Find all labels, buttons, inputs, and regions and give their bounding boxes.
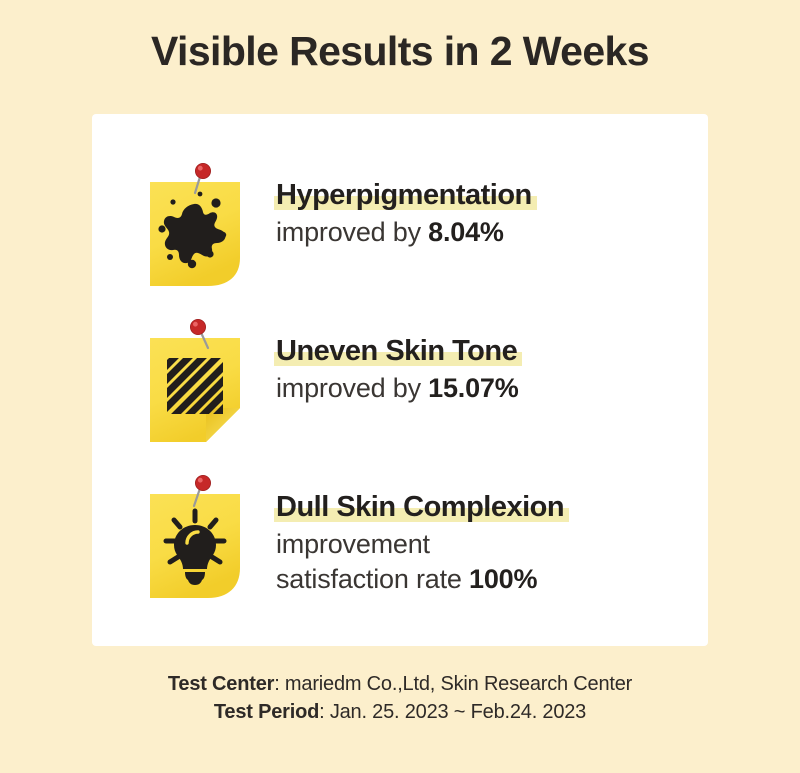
lightbulb-icon: [150, 494, 240, 598]
row-subline: improvement: [276, 527, 708, 562]
ink-splatter-icon: [150, 182, 240, 286]
footer: Test Center: mariedm Co.,Ltd, Skin Resea…: [0, 670, 800, 726]
row-heading: Dull Skin Complexion: [276, 490, 564, 524]
diagonal-stripes-icon: [150, 338, 240, 442]
sticky-note-1: [150, 162, 246, 286]
row-subline: improved by 15.07%: [276, 371, 708, 406]
row-heading: Hyperpigmentation: [276, 178, 532, 212]
push-pin-icon: [186, 162, 216, 196]
row-heading: Uneven Skin Tone: [276, 334, 517, 368]
row-text: Uneven Skin Tone improved by 15.07%: [246, 318, 708, 406]
infographic-page: Visible Results in 2 Weeks: [0, 0, 800, 773]
push-pin-icon: [186, 318, 216, 352]
list-item: Uneven Skin Tone improved by 15.07%: [92, 318, 708, 442]
row-text: Hyperpigmentation improved by 8.04%: [246, 162, 708, 250]
list-item: Hyperpigmentation improved by 8.04%: [92, 162, 708, 286]
push-pin-icon: [186, 474, 216, 508]
page-title: Visible Results in 2 Weeks: [0, 26, 800, 76]
row-subline: improved by 8.04%: [276, 215, 708, 250]
sticky-note-2: [150, 318, 246, 442]
results-card: Hyperpigmentation improved by 8.04%: [92, 114, 708, 646]
test-period-line: Test Period: Jan. 25. 2023 ~ Feb.24. 202…: [0, 698, 800, 726]
sticky-note-3: [150, 474, 246, 598]
row-subline: satisfaction rate 100%: [276, 562, 708, 597]
results-list: Hyperpigmentation improved by 8.04%: [92, 114, 708, 646]
row-text: Dull Skin Complexion improvement satisfa…: [246, 474, 708, 597]
list-item: Dull Skin Complexion improvement satisfa…: [92, 474, 708, 598]
test-center-line: Test Center: mariedm Co.,Ltd, Skin Resea…: [0, 670, 800, 698]
